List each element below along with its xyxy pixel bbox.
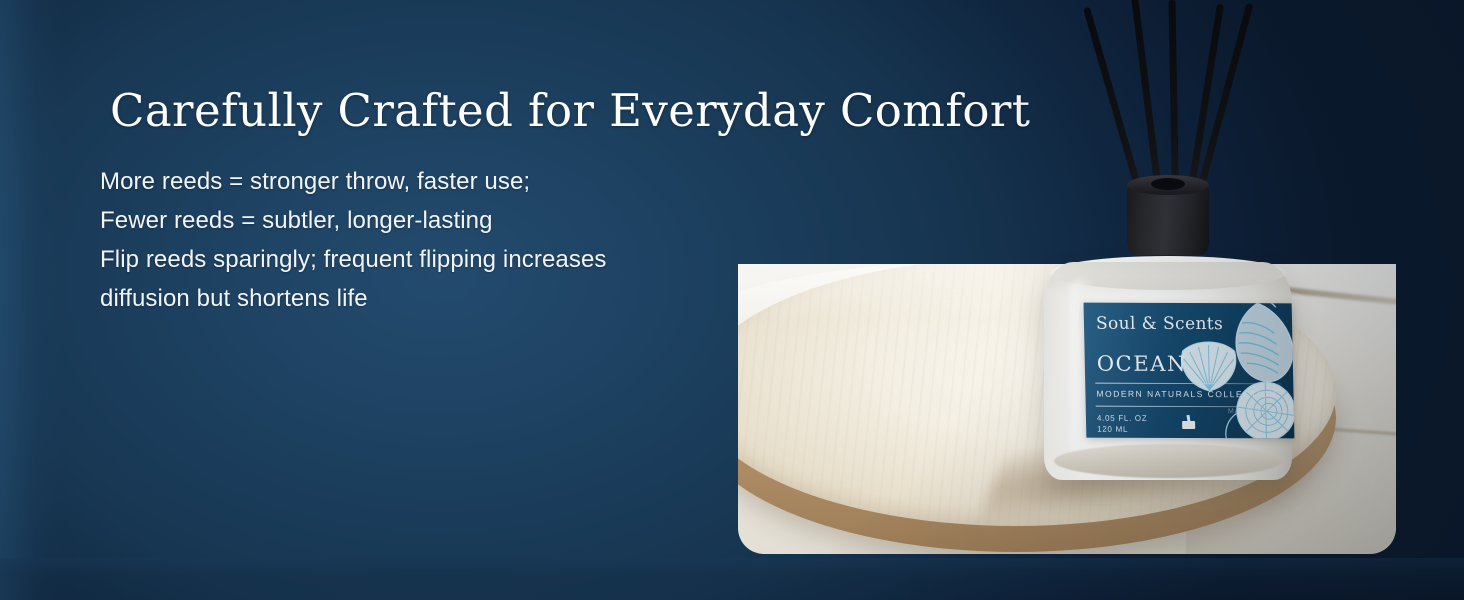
label-collection: MODERN NATURALS COLLECTION: [1096, 389, 1277, 400]
bottle-base: [1054, 444, 1282, 478]
label-scent-name: OCEAN: [1097, 352, 1188, 376]
label-origin-text: MADE IN ITALY: [1228, 407, 1288, 416]
label-volume-ml: 120 ML: [1097, 425, 1128, 434]
promotional-banner: Carefully Crafted for Everyday Comfort M…: [0, 0, 1464, 600]
cap-opening: [1151, 178, 1185, 190]
bottom-gradient-seam: [0, 558, 1464, 600]
reed-sticks: [1060, 0, 1300, 200]
usage-tip-line: Flip reeds sparingly; frequent flipping …: [100, 240, 820, 279]
reed-stick: [1169, 0, 1179, 200]
usage-tip-line: diffusion but shortens life: [100, 279, 820, 318]
diffuser-bottle-mark: [1182, 421, 1195, 429]
diffuser-cap: [1127, 175, 1209, 257]
label-brand: Soul & Scents: [1096, 314, 1224, 334]
usage-tip-line: More reeds = stronger throw, faster use;: [100, 162, 820, 201]
label-volume-oz: 4.05 FL. OZ: [1097, 414, 1148, 423]
usage-tip-line: Fewer reeds = subtler, longer-lasting: [100, 201, 820, 240]
diffuser-icon: [1182, 415, 1195, 429]
page-title: Carefully Crafted for Everyday Comfort: [110, 86, 820, 136]
label-volume: 4.05 FL. OZ120 ML: [1097, 413, 1148, 435]
copy-block: Carefully Crafted for Everyday Comfort M…: [100, 86, 820, 318]
product-label: Soul & Scents OCEAN MODERN NATURALS COLL…: [1084, 303, 1295, 439]
left-gradient-band: [0, 0, 62, 600]
usage-tips-list: More reeds = stronger throw, faster use;…: [100, 162, 820, 318]
